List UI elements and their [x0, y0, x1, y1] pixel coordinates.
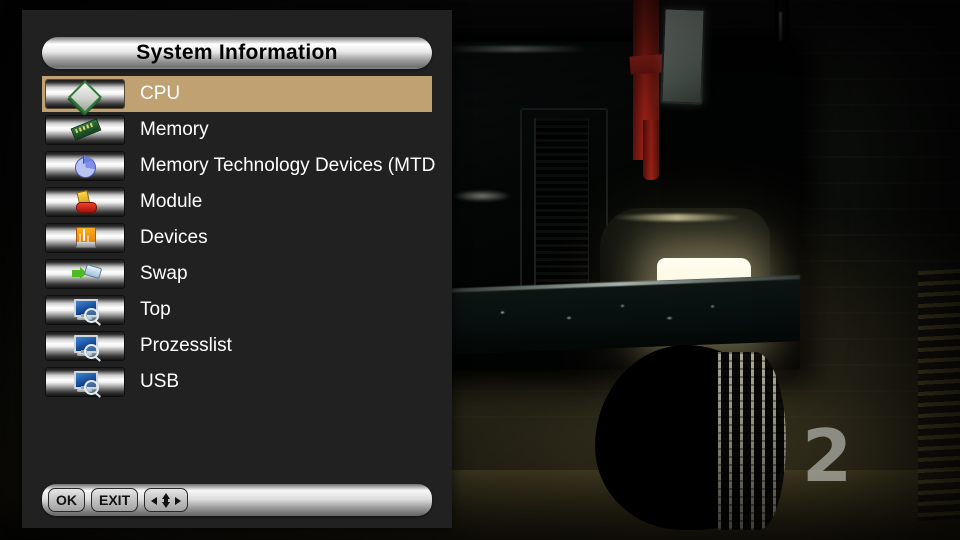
menu-item-label: Memory Technology Devices (MTD [140, 155, 435, 177]
menu-item-label: Devices [140, 227, 208, 249]
dpad-arrows-icon [151, 493, 181, 508]
icon-plate [46, 224, 124, 252]
menu-item-top[interactable]: Top [42, 292, 432, 328]
system-information-panel: System Information CPU Memory Memory Tec [22, 10, 452, 528]
menu-item-devices[interactable]: Devices [42, 220, 432, 256]
panel-title-bar: System Information [42, 37, 432, 69]
icon-plate [46, 296, 124, 324]
menu-item-prozesslist[interactable]: Prozesslist [42, 328, 432, 364]
menu-item-cpu[interactable]: CPU [42, 76, 432, 112]
menu-item-label: Swap [140, 263, 188, 285]
menu-item-swap[interactable]: Swap [42, 256, 432, 292]
page-title: System Information [136, 41, 337, 65]
menu-item-module[interactable]: Module [42, 184, 432, 220]
menu-item-label: Top [140, 299, 171, 321]
pie-chart-icon [72, 154, 98, 178]
tv-screen: 2 System Information CPU Memory [0, 0, 960, 540]
ok-button[interactable]: OK [48, 488, 85, 512]
swap-usb-arrow-icon [72, 262, 98, 286]
channel-watermark: 2 [802, 420, 850, 492]
icon-plate [46, 152, 124, 180]
usb-device-icon [72, 226, 98, 250]
menu-item-label: USB [140, 371, 179, 393]
monitor-magnifier-icon [72, 370, 98, 394]
icon-plate [46, 80, 124, 108]
module-block-icon [72, 190, 98, 214]
memory-ram-icon [72, 118, 98, 142]
menu-item-label: Prozesslist [140, 335, 232, 357]
monitor-magnifier-icon [72, 298, 98, 322]
icon-plate [46, 332, 124, 360]
dpad-button[interactable] [144, 488, 188, 512]
icon-plate [46, 188, 124, 216]
icon-plate [46, 260, 124, 288]
menu-item-label: CPU [140, 83, 180, 105]
exit-button[interactable]: EXIT [91, 488, 138, 512]
menu-item-label: Module [140, 191, 202, 213]
icon-plate [46, 116, 124, 144]
monitor-magnifier-icon [72, 334, 98, 358]
menu-item-memory[interactable]: Memory [42, 112, 432, 148]
menu-item-usb[interactable]: USB [42, 364, 432, 400]
button-bar: OK EXIT [42, 484, 432, 516]
icon-plate [46, 368, 124, 396]
menu-list[interactable]: CPU Memory Memory Technology Devices (MT… [42, 76, 432, 400]
cpu-chip-icon [72, 82, 98, 106]
menu-item-mtd[interactable]: Memory Technology Devices (MTD [42, 148, 432, 184]
menu-item-label: Memory [140, 119, 209, 141]
